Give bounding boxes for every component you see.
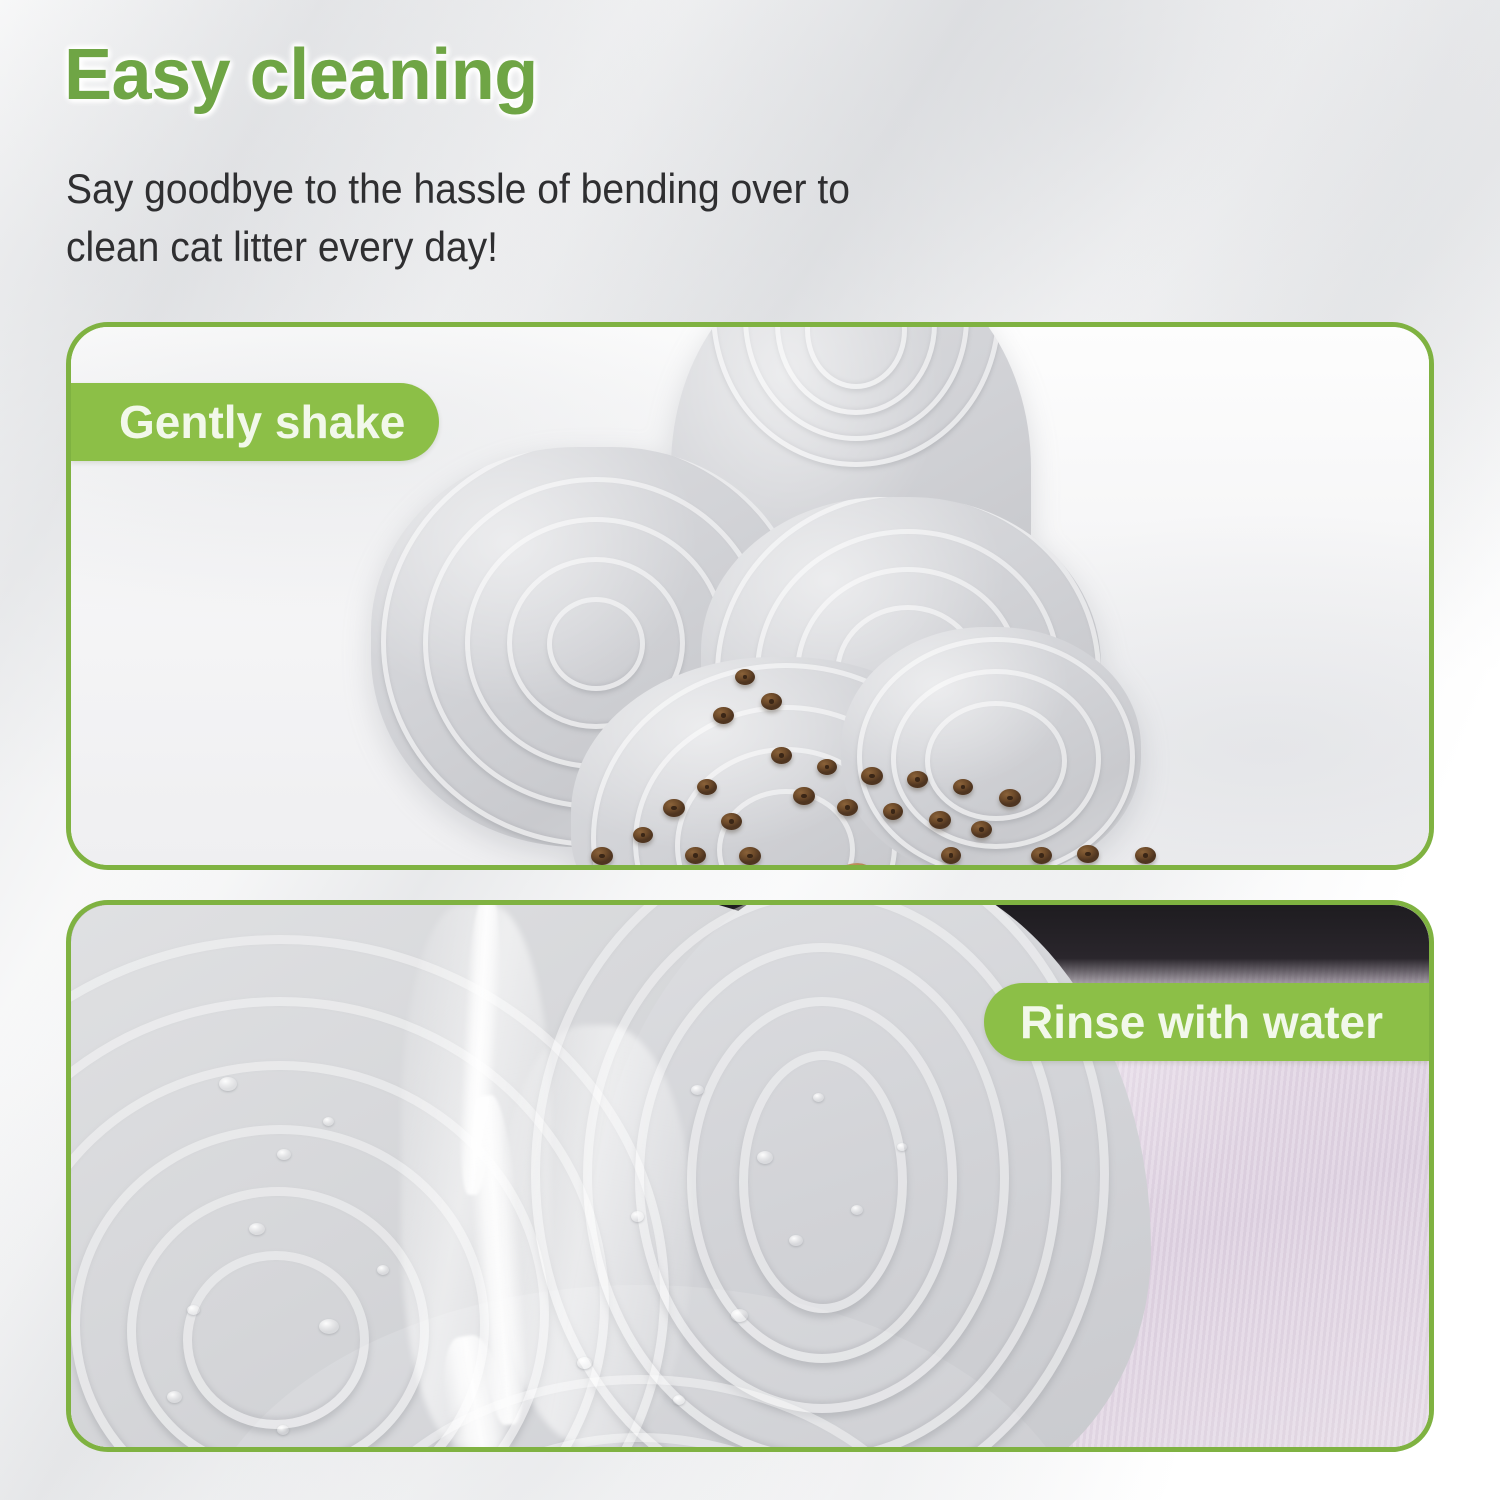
badge-gently-shake-label: Gently shake [119,395,405,449]
badge-rinse-with-water[interactable]: Rinse with water [984,983,1429,1061]
badge-gently-shake[interactable]: Gently shake [71,383,439,461]
page-title: Easy cleaning [64,34,538,116]
infographic-canvas: Easy cleaning Say goodbye to the hassle … [0,0,1500,1500]
subtitle-line-2: clean cat litter every day! [66,218,996,276]
subtitle-line-1: Say goodbye to the hassle of bending ove… [66,160,996,218]
silicone-litter-mat [371,322,1151,870]
panel-gently-shake: Gently shake [66,322,1434,870]
mat-ridge-rings [841,627,1141,870]
panel-rinse-with-water: Rinse with water [66,900,1434,1452]
mat-lobe-lower-right [841,627,1141,870]
badge-rinse-with-water-label: Rinse with water [1020,995,1383,1049]
page-subtitle: Say goodbye to the hassle of bending ove… [66,160,996,276]
